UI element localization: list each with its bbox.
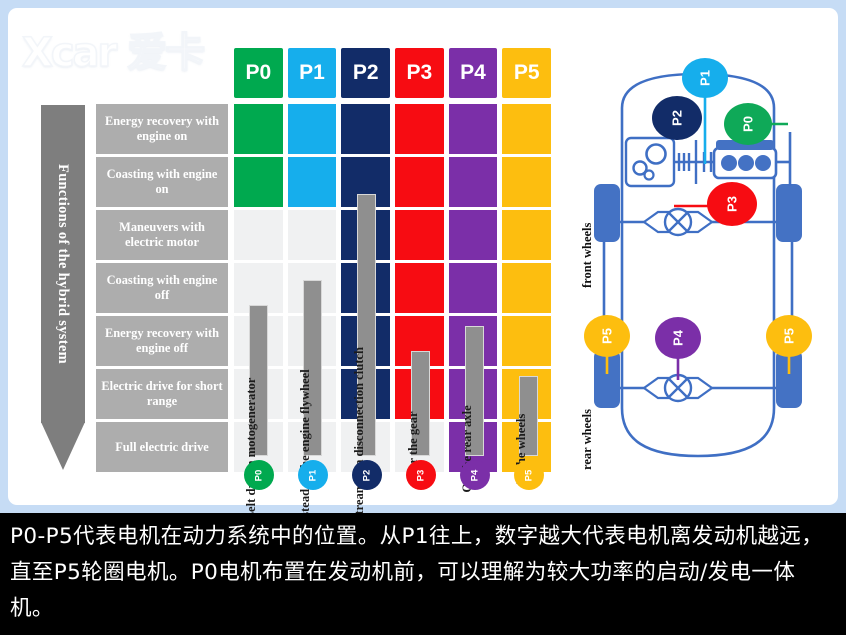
matrix-cell-p1-r6: [288, 369, 337, 419]
hybrid-functions-arrow: Functions of the hybrid system: [41, 105, 85, 470]
matrix-column-badge-p0[interactable]: P0: [244, 460, 274, 490]
matrix-column-badges: P0P1P2P3P4P5: [234, 460, 556, 500]
matrix-cell-p3-r6: [395, 369, 444, 419]
matrix-cell-p4-r6: [449, 369, 498, 419]
rear-wheels-label: rear wheels: [580, 409, 595, 470]
matrix-cell-p1-r4: [288, 263, 337, 313]
svg-text:P3: P3: [725, 196, 740, 212]
matrix-column-header-p4[interactable]: P4: [449, 48, 498, 98]
matrix-header-row: P0P1P2P3P4P5: [234, 48, 556, 98]
node-p5-left: P5: [584, 315, 630, 357]
matrix-column-header-p5[interactable]: P5: [502, 48, 551, 98]
matrix-row: [234, 316, 556, 366]
arrow-label: Functions of the hybrid system: [41, 105, 85, 423]
svg-text:P1: P1: [698, 70, 713, 86]
matrix-cell-p5-r5: [502, 316, 551, 366]
matrix-row: [234, 157, 556, 207]
infographic-card: Xcar 爱卡 Functions of the hybrid system E…: [8, 8, 838, 505]
matrix-cell-p2-r6: [341, 369, 390, 419]
caption-bar: P0-P5代表电机在动力系统中的位置。从P1往上，数字越大代表电机离发动机越远，…: [0, 513, 846, 635]
matrix-cell-p0-r5: [234, 316, 283, 366]
svg-text:P4: P4: [671, 329, 686, 346]
svg-text:P5: P5: [600, 328, 615, 344]
matrix-column-badge-p5[interactable]: P5: [514, 460, 544, 490]
node-p4: P4: [655, 317, 701, 359]
function-matrix: Energy recovery with engine onCoasting w…: [96, 48, 556, 463]
matrix-cell-p1-r5: [288, 316, 337, 366]
matrix-row: [234, 263, 556, 313]
matrix-column-badge-label: P4: [469, 469, 480, 481]
matrix-cell-p3-r1: [395, 104, 444, 154]
svg-text:P2: P2: [670, 110, 685, 126]
card-frame: Xcar 爱卡 Functions of the hybrid system E…: [0, 0, 846, 513]
matrix-column-badge-p3[interactable]: P3: [406, 460, 436, 490]
matrix-row: [234, 369, 556, 419]
matrix-row: [234, 104, 556, 154]
matrix-row-label: Coasting with engine on: [96, 157, 228, 207]
matrix-cell-p2-r1: [341, 104, 390, 154]
screenshot-root: Xcar 爱卡 Functions of the hybrid system E…: [0, 0, 846, 635]
matrix-row-label: Energy recovery with engine on: [96, 104, 228, 154]
matrix-cell-p2-r5: [341, 316, 390, 366]
matrix-cell-p0-r3: [234, 210, 283, 260]
matrix-column-badge-label: P5: [523, 469, 534, 481]
matrix-cell-p4-r1: [449, 104, 498, 154]
svg-text:P0: P0: [741, 116, 756, 132]
node-p5-right: P5: [766, 315, 812, 357]
node-p0: P0: [724, 103, 772, 145]
matrix-cell-p5-r1: [502, 104, 551, 154]
matrix-cell-p2-r4: [341, 263, 390, 313]
matrix-column-badge-label: P0: [253, 469, 264, 481]
matrix-cell-p0-r2: [234, 157, 283, 207]
matrix-cell-p2-r3: [341, 210, 390, 260]
matrix-cell-p2-r2: [341, 157, 390, 207]
matrix-cell-p1-r3: [288, 210, 337, 260]
front-left-wheel: [594, 184, 620, 242]
matrix-cell-p3-r5: [395, 316, 444, 366]
caption-text: P0-P5代表电机在动力系统中的位置。从P1往上，数字越大代表电机离发动机越远，…: [10, 519, 836, 627]
matrix-row: [234, 210, 556, 260]
matrix-cell-p3-r4: [395, 263, 444, 313]
matrix-column-header-p0[interactable]: P0: [234, 48, 283, 98]
matrix-cell-p4-r2: [449, 157, 498, 207]
matrix-cell-p3-r3: [395, 210, 444, 260]
matrix-grid: P0P1P2P3P4P5: [234, 48, 556, 475]
matrix-column-badge-label: P2: [361, 469, 372, 481]
hybrid-layout-diagram: P1 P2 P0 P3: [564, 36, 836, 486]
matrix-column-header-p3[interactable]: P3: [395, 48, 444, 98]
matrix-cell-p5-r6: [502, 369, 551, 419]
svg-text:P5: P5: [782, 328, 797, 344]
matrix-column-badge-p4[interactable]: P4: [460, 460, 490, 490]
matrix-cell-p0-r6: [234, 369, 283, 419]
matrix-cell-p5-r3: [502, 210, 551, 260]
matrix-cell-p0-r4: [234, 263, 283, 313]
node-p1: P1: [682, 58, 728, 98]
matrix-column-badge-label: P3: [415, 469, 426, 481]
matrix-cell-p4-r5: [449, 316, 498, 366]
matrix-column-badge-p2[interactable]: P2: [352, 460, 382, 490]
matrix-row-label: Energy recovery with engine off: [96, 316, 228, 366]
node-p2: P2: [652, 96, 702, 140]
matrix-cell-p1-r2: [288, 157, 337, 207]
front-right-wheel: [776, 184, 802, 242]
matrix-column-header-p2[interactable]: P2: [341, 48, 390, 98]
matrix-cell-p0-r1: [234, 104, 283, 154]
matrix-cell-p3-r2: [395, 157, 444, 207]
car-schematic-svg: P1 P2 P0 P3: [564, 36, 836, 486]
matrix-row-label: Maneuvers with electric motor: [96, 210, 228, 260]
matrix-row-label: Electric drive for short range: [96, 369, 228, 419]
matrix-row-label: Full electric drive: [96, 422, 228, 472]
matrix-cell-p4-r3: [449, 210, 498, 260]
matrix-cell-p1-r1: [288, 104, 337, 154]
matrix-column-badge-label: P1: [307, 469, 318, 481]
matrix-cell-p5-r2: [502, 157, 551, 207]
matrix-row-labels: Energy recovery with engine onCoasting w…: [96, 104, 228, 475]
matrix-row-label: Coasting with engine off: [96, 263, 228, 313]
matrix-cell-p5-r4: [502, 263, 551, 313]
node-p3: P3: [707, 182, 757, 226]
arrow-head-icon: [41, 422, 85, 470]
front-differential-icon: [644, 209, 712, 235]
matrix-column-badge-p1[interactable]: P1: [298, 460, 328, 490]
matrix-column-header-p1[interactable]: P1: [288, 48, 337, 98]
front-wheels-label: front wheels: [580, 223, 595, 288]
gearbox-icon: [626, 138, 674, 186]
matrix-cell-p4-r4: [449, 263, 498, 313]
